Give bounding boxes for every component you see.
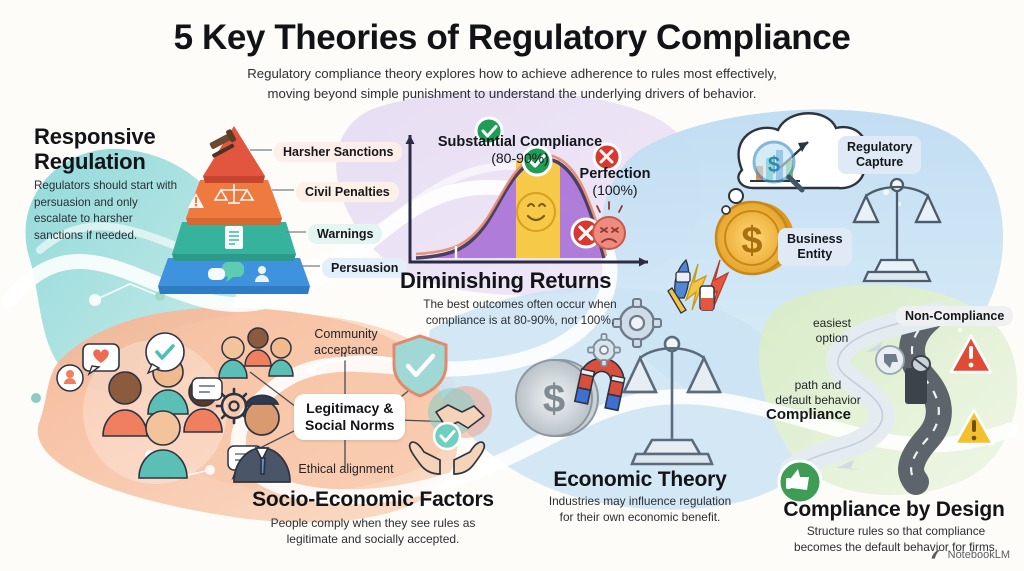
chat-bubble-icon: [192, 378, 222, 400]
heart-bubble-icon: [83, 344, 119, 374]
thumbs-up-icon: [779, 461, 821, 503]
label-business-entity: Business Entity: [778, 228, 852, 266]
label-easiest-option: easiest option: [800, 316, 864, 346]
socio-body-line-2: legitimate and socially accepted.: [228, 531, 518, 547]
document-icon: [225, 226, 243, 249]
economic-theory-heading: Economic Theory: [520, 468, 760, 492]
socio-economic-body: People comply when they see rules as leg…: [228, 515, 518, 547]
cbd-body-line-1: Structure rules so that compliance: [770, 524, 1022, 540]
economic-body-line-1: Industries may influence regulation: [520, 494, 760, 510]
substantial-compliance-line-2: (80-90%): [430, 150, 610, 166]
subtitle-line-2: moving beyond simple punishment to under…: [0, 84, 1024, 104]
legitimacy-line-2: Social Norms: [305, 417, 394, 434]
label-non-compliance: Non-Compliance: [896, 306, 1013, 326]
svg-text:$: $: [768, 152, 780, 177]
page-subtitle: Regulatory compliance theory explores ho…: [0, 64, 1024, 104]
watermark: NotebookLM: [930, 548, 1010, 561]
regulatory-capture-line-1: Regulatory: [847, 140, 912, 155]
watermark-label: NotebookLM: [948, 549, 1010, 561]
pyramid-label-persuasion: Persuasion: [322, 258, 407, 278]
pyramid-label-harsher-sanctions: Harsher Sanctions: [274, 142, 402, 162]
svg-text:$: $: [741, 220, 762, 262]
substantial-compliance-line-1: Substantial Compliance: [430, 134, 610, 150]
economic-theory-body: Industries may influence regulation for …: [520, 494, 760, 525]
community-acceptance-line-1: Community: [296, 326, 396, 342]
easiest-option-line-1: easiest: [800, 316, 864, 331]
socio-economic-heading: Socio-Economic Factors: [228, 488, 518, 512]
infographic-canvas: $: [0, 0, 1024, 571]
easiest-option-line-2: option: [800, 331, 864, 346]
thumbs-down-icon: [876, 346, 904, 374]
economic-body-line-2: for their own economic benefit.: [520, 510, 760, 526]
diminishing-body-line-2: compliance is at 80-90%, not 100%.: [400, 312, 640, 328]
avatar-bubble-icon: [57, 365, 83, 391]
chart-label-substantial-compliance: Substantial Compliance (80-90%): [430, 134, 610, 166]
label-path-default-behavior: path and default behavior: [768, 378, 868, 408]
label-compliance: Compliance: [766, 406, 851, 423]
diminishing-returns-body: The best outcomes often occur when compl…: [400, 296, 640, 328]
distressed-face-icon: [593, 202, 625, 249]
compliance-by-design-heading: Compliance by Design: [770, 498, 1018, 522]
page-title: 5 Key Theories of Regulatory Compliance: [0, 18, 1024, 58]
pyramid-label-warnings: Warnings: [308, 224, 382, 244]
socio-center-node: Legitimacy & Social Norms: [294, 394, 405, 440]
socio-node-community-acceptance: Community acceptance: [296, 326, 396, 358]
responsive-regulation-body: Regulators should start with persuasion …: [34, 178, 184, 244]
business-entity-line-1: Business: [787, 232, 843, 247]
socio-body-line-1: People comply when they see rules as: [228, 515, 518, 531]
regulatory-capture-line-2: Capture: [847, 155, 912, 170]
perfection-line-1: Perfection: [570, 166, 660, 182]
smiling-face-icon: [517, 193, 555, 231]
diminishing-returns-heading: Diminishing Returns: [400, 268, 660, 294]
responsive-regulation-heading: Responsive Regulation: [34, 124, 204, 174]
pyramid-label-civil-penalties: Civil Penalties: [296, 182, 399, 202]
business-entity-line-2: Entity: [787, 247, 843, 262]
subtitle-line-1: Regulatory compliance theory explores ho…: [0, 64, 1024, 84]
community-acceptance-line-2: acceptance: [296, 342, 396, 358]
notebooklm-icon: [930, 548, 943, 561]
path-default-line-1: path and: [768, 378, 868, 393]
chart-label-perfection: Perfection (100%): [570, 166, 660, 198]
legitimacy-line-1: Legitimacy &: [305, 400, 394, 417]
label-regulatory-capture: Regulatory Capture: [838, 136, 921, 174]
diminishing-body-line-1: The best outcomes often occur when: [400, 296, 640, 312]
socio-node-ethical-alignment: Ethical alignment: [282, 462, 410, 476]
svg-text:$: $: [543, 377, 565, 421]
perfection-line-2: (100%): [570, 182, 660, 198]
